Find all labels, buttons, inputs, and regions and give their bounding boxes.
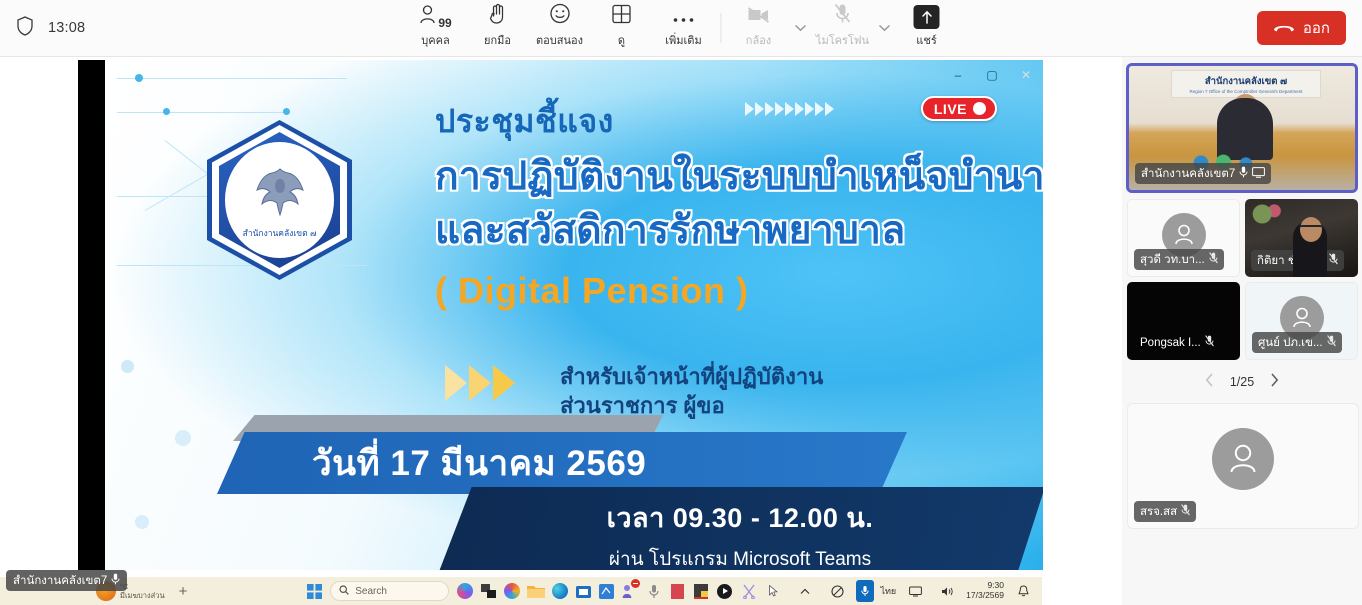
meeting-clock: 13:08 xyxy=(48,20,85,36)
mic-muted-icon xyxy=(1327,335,1336,350)
mic-app-icon[interactable] xyxy=(642,578,666,604)
store-icon[interactable] xyxy=(571,578,595,604)
copilot-icon[interactable] xyxy=(453,578,477,604)
camera-off-icon xyxy=(747,6,771,29)
microphone-dropdown-chevron[interactable] xyxy=(874,2,896,54)
do-not-disturb-icon[interactable] xyxy=(824,578,850,604)
slide-date: วันที่ 17 มีนาคม 2569 xyxy=(312,436,646,491)
office-icon[interactable] xyxy=(501,578,525,604)
participant-name: สรจ.สส xyxy=(1140,503,1177,521)
raise-hand-button[interactable]: ยกมือ xyxy=(467,2,529,54)
active-speaker-tile[interactable]: สำนักงานคลังเขต ๗ Region 7 Office of the… xyxy=(1126,63,1358,193)
participant-tile-3[interactable]: ศูนย์ ปภ.เข... xyxy=(1245,282,1358,360)
chevron-right-icon xyxy=(1270,373,1279,392)
slide-platform: ผ่าน โปรแกรม Microsoft Teams xyxy=(609,544,871,571)
mic-muted-icon xyxy=(1209,252,1218,267)
chevron-up-icon[interactable] xyxy=(792,578,818,604)
organization-logo: สำนักงานคลังเขต ๗ xyxy=(207,120,352,280)
participant-label: สุวดี วท.บา... xyxy=(1134,249,1224,270)
participant-tile-1[interactable]: กิติยา ชำคง... xyxy=(1245,199,1358,277)
chevron-left-icon xyxy=(1205,373,1214,392)
alert-badge-icon xyxy=(631,579,640,588)
raise-hand-label: ยกมือ xyxy=(484,31,511,49)
participant-tile-2[interactable]: Pongsak I... xyxy=(1127,282,1240,360)
microphone-button[interactable]: ไมโครโฟน xyxy=(812,2,874,54)
camera-control: กล้อง xyxy=(728,2,812,54)
mic-off-icon xyxy=(834,3,852,29)
wall-sign-line1: สำนักงานคลังเขต ๗ xyxy=(1205,74,1287,89)
meeting-toolbar: 13:08 99 บุคคล ยกมือ xyxy=(0,0,1362,57)
toolbar-right: ออก xyxy=(1243,11,1346,45)
active-speaker-label: สำนักงานคลังเขต7 xyxy=(1135,163,1271,184)
media-player-icon[interactable] xyxy=(713,578,737,604)
shared-screen[interactable]: LIVE สำนักงานคลังเขต ๗ ประชุม xyxy=(78,60,1043,570)
search-placeholder: Search xyxy=(355,586,387,597)
reactions-button[interactable]: ตอบสนอง xyxy=(529,2,591,54)
self-view-label: สำนักงานคลังเขต7 xyxy=(6,570,127,591)
presentation-slide: LIVE สำนักงานคลังเขต ๗ ประชุม xyxy=(105,60,1043,570)
participant-name: Pongsak I... xyxy=(1140,337,1201,349)
participant-name: สุวดี วท.บา... xyxy=(1140,251,1205,269)
self-view-name: สำนักงานคลังเขต7 xyxy=(13,572,107,590)
chevron-down-icon xyxy=(879,19,891,37)
slide-title-line1: การปฏิบัติงานในระบบบำเหน็จบำนาญ xyxy=(435,153,1043,201)
weather-desc: มีเมฆบางส่วน xyxy=(120,591,165,600)
reactions-label: ตอบสนอง xyxy=(536,31,583,49)
tray-clock[interactable]: 9:30 17/3/2569 xyxy=(966,581,1004,601)
share-button[interactable]: แชร์ xyxy=(896,2,958,54)
leave-button[interactable]: ออก xyxy=(1257,11,1346,45)
leave-label: ออก xyxy=(1303,16,1330,40)
participant-label: สรจ.สส xyxy=(1134,501,1196,522)
pager-next-button[interactable] xyxy=(1270,373,1279,392)
slide-time-band: เวลา 09.30 - 12.00 น. ผ่าน โปรแกรม Micro… xyxy=(435,487,1043,570)
edge-icon[interactable] xyxy=(548,578,572,604)
participant-rail: สำนักงานคลังเขต ๗ Region 7 Office of the… xyxy=(1122,57,1362,605)
slide-date-band: วันที่ 17 มีนาคม 2569 xyxy=(217,432,907,494)
window-controls: – ▢ ✕ xyxy=(941,63,1043,87)
mic-active-icon[interactable] xyxy=(856,580,874,602)
participant-label: กิติยา ชำคง... xyxy=(1251,250,1344,271)
slide-time: เวลา 09.30 - 12.00 น. xyxy=(607,496,874,539)
volume-icon[interactable] xyxy=(934,578,960,604)
grid-icon xyxy=(612,4,632,29)
search-icon xyxy=(339,585,349,598)
cursor-icon xyxy=(760,578,786,604)
rail-pagination: 1/25 xyxy=(1126,367,1358,397)
camera-dropdown-chevron[interactable] xyxy=(790,2,812,54)
maximize-button[interactable]: ▢ xyxy=(975,63,1009,87)
chevron-accent-icon xyxy=(445,365,515,401)
file-explorer-icon[interactable] xyxy=(524,578,548,604)
slide-audience-line2: ส่วนราชการ ผู้ขอ xyxy=(560,391,823,420)
network-icon[interactable] xyxy=(902,578,928,604)
settings-icon[interactable] xyxy=(595,578,619,604)
participant-tile-0[interactable]: สุวดี วท.บา... xyxy=(1127,199,1240,277)
bell-icon[interactable] xyxy=(1010,578,1036,604)
toolbar-center: 99 บุคคล ยกมือ ตอบสนอง xyxy=(405,0,958,57)
add-widget-button[interactable]: + xyxy=(179,583,188,600)
microphone-label: ไมโครโฟน xyxy=(816,31,869,49)
hand-icon xyxy=(488,3,507,29)
slide-title-line2: และสวัสดิการรักษาพยาบาล xyxy=(435,207,1043,255)
people-label: บุคคล xyxy=(421,31,449,49)
more-label: เพิ่มเติม xyxy=(665,31,701,49)
ellipsis-icon xyxy=(673,11,695,29)
system-tray: ไทย 9:30 17/3/2569 xyxy=(760,578,1042,604)
toolbar-divider xyxy=(721,13,722,43)
search-input[interactable]: Search xyxy=(330,581,449,601)
smiley-icon xyxy=(549,3,570,29)
person-icon xyxy=(419,5,436,29)
microphone-control: ไมโครโฟน xyxy=(812,2,896,54)
snipping-tool-icon[interactable] xyxy=(737,578,761,604)
pager-label: 1/25 xyxy=(1230,375,1254,389)
pdf-icon[interactable] xyxy=(666,578,690,604)
people-count: 99 xyxy=(438,17,451,29)
teams-icon[interactable] xyxy=(619,578,643,604)
view-label: ดู xyxy=(618,31,625,49)
slide-audience-line1: สำหรับเจ้าหน้าที่ผู้ปฏิบัติงาน xyxy=(560,362,823,391)
camera-button[interactable]: กล้อง xyxy=(728,2,790,54)
slide-audience: สำหรับเจ้าหน้าที่ผู้ปฏิบัติงาน ส่วนราชกา… xyxy=(560,362,823,420)
close-button[interactable]: ✕ xyxy=(1009,63,1043,87)
notepad-icon[interactable] xyxy=(690,578,714,604)
minimize-button[interactable]: – xyxy=(941,63,975,87)
mic-muted-icon xyxy=(1329,253,1338,268)
toolbar-left: 13:08 xyxy=(0,16,85,41)
language-indicator[interactable]: ไทย xyxy=(880,584,896,598)
mic-muted-icon xyxy=(1181,504,1190,519)
view-button[interactable]: ดู xyxy=(591,2,653,54)
live-badge: LIVE xyxy=(921,96,997,121)
slide-subtitle: ( Digital Pension ) xyxy=(435,270,1043,312)
live-dot-icon xyxy=(973,102,986,115)
taskview-icon[interactable] xyxy=(477,578,501,604)
share-label: แชร์ xyxy=(916,31,936,49)
mic-on-icon xyxy=(111,573,120,588)
meeting-stage: LIVE สำนักงานคลังเขต ๗ ประชุม xyxy=(0,57,1122,605)
participant-tile-bottom[interactable]: สรจ.สส xyxy=(1127,403,1359,529)
mic-muted-icon xyxy=(1205,335,1214,350)
garuda-emblem-icon xyxy=(249,165,311,224)
participant-name: กิติยา ชำคง... xyxy=(1257,252,1325,270)
pager-prev-button[interactable] xyxy=(1205,373,1214,392)
active-speaker-name: สำนักงานคลังเขต7 xyxy=(1141,165,1235,183)
screen-share-icon xyxy=(1252,167,1265,181)
more-button[interactable]: เพิ่มเติม xyxy=(653,2,715,54)
shield-icon xyxy=(16,16,34,41)
share-up-arrow-icon xyxy=(914,5,940,29)
chevron-down-icon xyxy=(795,19,807,37)
people-button[interactable]: 99 บุคคล xyxy=(405,2,467,54)
avatar xyxy=(1212,428,1274,490)
logo-caption: สำนักงานคลังเขต ๗ xyxy=(243,226,317,240)
tray-date: 17/3/2569 xyxy=(966,591,1004,601)
participant-label: Pongsak I... xyxy=(1134,332,1220,353)
participant-label: ศูนย์ ปภ.เข... xyxy=(1252,332,1342,353)
mic-on-icon xyxy=(1239,166,1248,181)
participant-grid: สุวดี วท.บา... กิติยา ชำคง... Pongsak I.… xyxy=(1126,199,1358,360)
camera-label: กล้อง xyxy=(746,31,771,49)
phone-hangup-icon xyxy=(1273,20,1295,37)
participant-name: ศูนย์ ปภ.เข... xyxy=(1258,334,1323,352)
windows-start-icon[interactable] xyxy=(303,578,327,604)
